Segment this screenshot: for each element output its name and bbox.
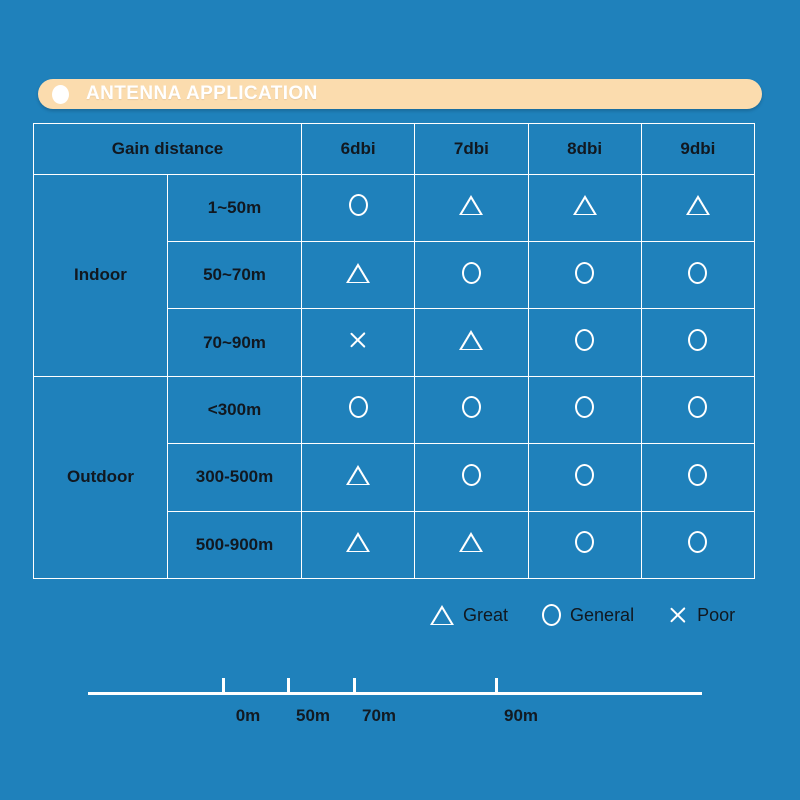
range-label: <300m: [168, 376, 302, 443]
circle-icon: [462, 464, 481, 486]
circle-icon: [575, 531, 594, 553]
circle-icon: [462, 262, 481, 284]
header-gain-distance: Gain distance: [34, 124, 302, 175]
cell-indoor-7dbi: [415, 241, 528, 308]
cell-outdoor-9dbi: [641, 444, 754, 511]
triangle-icon: [430, 605, 454, 625]
cell-indoor-9dbi: [641, 174, 754, 241]
cell-indoor-6dbi: [302, 241, 415, 308]
triangle-icon: [346, 263, 370, 283]
distance-scale-ruler: 0m50m70m90m: [88, 676, 702, 736]
legend-label: Poor: [697, 605, 735, 626]
circle-icon: [575, 464, 594, 486]
circle-icon: [688, 531, 707, 553]
cell-outdoor-6dbi: [302, 376, 415, 443]
cell-indoor-6dbi: [302, 309, 415, 376]
ruler-tick-70m: [353, 678, 356, 694]
antenna-application-banner: ANTENNA APPLICATION: [38, 79, 762, 109]
gain-distance-table: Gain distance6dbi7dbi8dbi9dbiIndoor1~50m…: [33, 123, 755, 579]
circle-icon: [575, 396, 594, 418]
circle-icon: [688, 396, 707, 418]
ruler-tick-0m: [222, 678, 225, 694]
triangle-icon: [573, 195, 597, 215]
ruler-tick-label: 0m: [236, 706, 261, 726]
ruler-tick-label: 50m: [296, 706, 330, 726]
triangle-icon: [346, 465, 370, 485]
circle-icon: [349, 194, 368, 216]
header-column-8dbi: 8dbi: [528, 124, 641, 175]
circle-bullet-icon: [52, 85, 69, 104]
cell-indoor-8dbi: [528, 309, 641, 376]
cell-outdoor-8dbi: [528, 376, 641, 443]
ruler-tick-90m: [495, 678, 498, 694]
table-row: Outdoor<300m: [34, 376, 755, 443]
header-column-7dbi: 7dbi: [415, 124, 528, 175]
cell-outdoor-8dbi: [528, 511, 641, 578]
cross-icon: [348, 330, 368, 350]
group-label-indoor: Indoor: [34, 174, 168, 376]
legend-item-poor: Poor: [668, 605, 735, 626]
cell-outdoor-7dbi: [415, 376, 528, 443]
cross-icon: [668, 605, 688, 625]
cell-outdoor-7dbi: [415, 511, 528, 578]
banner-title: ANTENNA APPLICATION: [86, 83, 318, 105]
cell-outdoor-9dbi: [641, 511, 754, 578]
triangle-icon: [459, 330, 483, 350]
range-label: 70~90m: [168, 309, 302, 376]
ruler-tick-label: 90m: [504, 706, 538, 726]
antenna-application-table: Gain distance6dbi7dbi8dbi9dbiIndoor1~50m…: [33, 123, 755, 579]
circle-icon: [688, 464, 707, 486]
legend-item-general: General: [542, 604, 634, 626]
cell-outdoor-7dbi: [415, 444, 528, 511]
legend: GreatGeneralPoor: [430, 598, 760, 632]
range-label: 1~50m: [168, 174, 302, 241]
range-label: 300-500m: [168, 444, 302, 511]
legend-label: General: [570, 605, 634, 626]
table-header-row: Gain distance6dbi7dbi8dbi9dbi: [34, 124, 755, 175]
ruler-tick-50m: [287, 678, 290, 694]
circle-icon: [575, 262, 594, 284]
legend-item-great: Great: [430, 605, 508, 626]
circle-icon: [688, 329, 707, 351]
circle-icon: [349, 396, 368, 418]
cell-indoor-7dbi: [415, 174, 528, 241]
cell-outdoor-8dbi: [528, 444, 641, 511]
table-row: Indoor1~50m: [34, 174, 755, 241]
cell-outdoor-6dbi: [302, 444, 415, 511]
group-label-outdoor: Outdoor: [34, 376, 168, 578]
cell-indoor-8dbi: [528, 241, 641, 308]
range-label: 500-900m: [168, 511, 302, 578]
cell-indoor-9dbi: [641, 309, 754, 376]
circle-icon: [575, 329, 594, 351]
triangle-icon: [346, 532, 370, 552]
triangle-icon: [459, 195, 483, 215]
legend-label: Great: [463, 605, 508, 626]
triangle-icon: [686, 195, 710, 215]
cell-indoor-9dbi: [641, 241, 754, 308]
cell-indoor-8dbi: [528, 174, 641, 241]
range-label: 50~70m: [168, 241, 302, 308]
cell-indoor-6dbi: [302, 174, 415, 241]
circle-icon: [462, 396, 481, 418]
ruler-tick-label: 70m: [362, 706, 396, 726]
cell-indoor-7dbi: [415, 309, 528, 376]
circle-icon: [688, 262, 707, 284]
circle-icon: [542, 604, 561, 626]
header-column-6dbi: 6dbi: [302, 124, 415, 175]
cell-outdoor-9dbi: [641, 376, 754, 443]
cell-outdoor-6dbi: [302, 511, 415, 578]
ruler-baseline: [88, 692, 702, 695]
triangle-icon: [459, 532, 483, 552]
header-column-9dbi: 9dbi: [641, 124, 754, 175]
